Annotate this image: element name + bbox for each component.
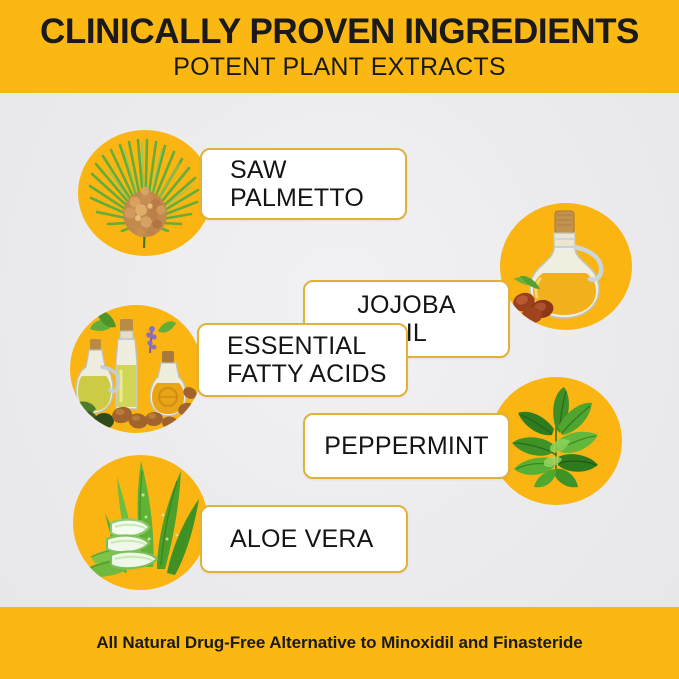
header-band: CLINICALLY PROVEN INGREDIENTS POTENT PLA…: [0, 0, 679, 93]
aloe-vera-icon: [73, 455, 208, 590]
saw-palmetto-icon: [78, 130, 212, 256]
ingredient-label-aloe-vera[interactable]: ALOE VERA: [200, 505, 408, 573]
ingredient-label-peppermint[interactable]: PEPPERMINT: [303, 413, 510, 479]
footer-tagline: All Natural Drug-Free Alternative to Min…: [96, 633, 582, 653]
ingredient-label-text: ESSENTIAL FATTY ACIDS: [199, 332, 406, 388]
page-title: CLINICALLY PROVEN INGREDIENTS: [40, 14, 639, 49]
ingredients-infographic: CLINICALLY PROVEN INGREDIENTS POTENT PLA…: [0, 0, 679, 679]
saw-palmetto-circle: [78, 130, 212, 256]
ingredient-label-text: ALOE VERA: [202, 525, 406, 553]
page-subtitle: POTENT PLANT EXTRACTS: [173, 55, 506, 80]
ingredient-label-saw-palmetto[interactable]: SAW PALMETTO: [200, 148, 407, 220]
aloe-vera-circle: [73, 455, 208, 590]
jojoba-oil-circle: [500, 203, 632, 330]
jojoba-oil-icon: [500, 203, 632, 330]
essential-fatty-acids-circle: [70, 305, 202, 433]
ingredient-label-text: PEPPERMINT: [305, 432, 508, 460]
ingredient-label-essential-fatty-acids[interactable]: ESSENTIAL FATTY ACIDS: [197, 323, 408, 397]
ingredient-label-text: SAW PALMETTO: [202, 156, 405, 212]
footer-band: All Natural Drug-Free Alternative to Min…: [0, 607, 679, 679]
essential-fatty-acids-icon: [70, 305, 202, 433]
